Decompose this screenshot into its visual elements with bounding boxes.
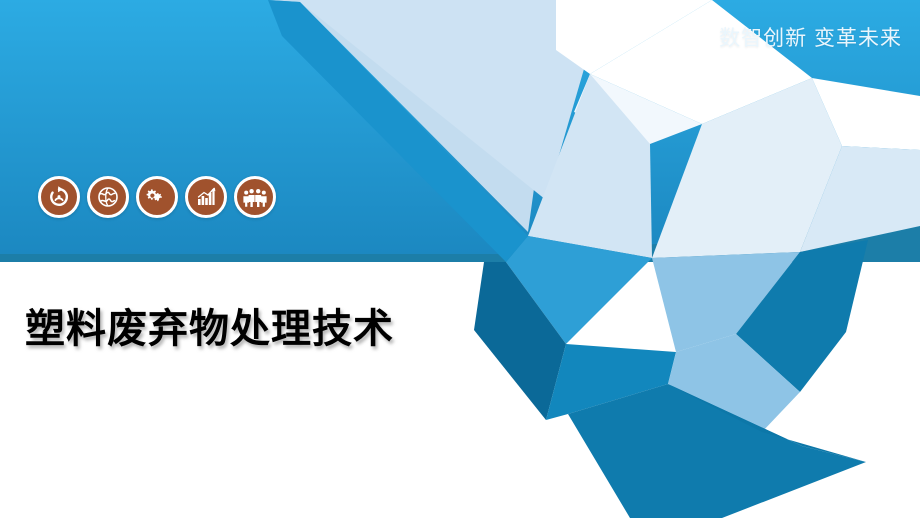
page-title: 塑料废弃物处理技术	[25, 296, 394, 354]
bar-chart-icon[interactable]	[185, 176, 227, 218]
people-group-icon[interactable]	[234, 176, 276, 218]
recycle-icon[interactable]	[38, 176, 80, 218]
slide-canvas: 数智创新 变革未来	[0, 0, 920, 518]
background-polygon-art	[0, 0, 920, 518]
icon-row	[38, 176, 276, 218]
header-band-edge-left	[0, 254, 512, 262]
tagline: 数智创新 变革未来	[719, 26, 902, 51]
globe-icon[interactable]	[87, 176, 129, 218]
gears-icon[interactable]	[136, 176, 178, 218]
